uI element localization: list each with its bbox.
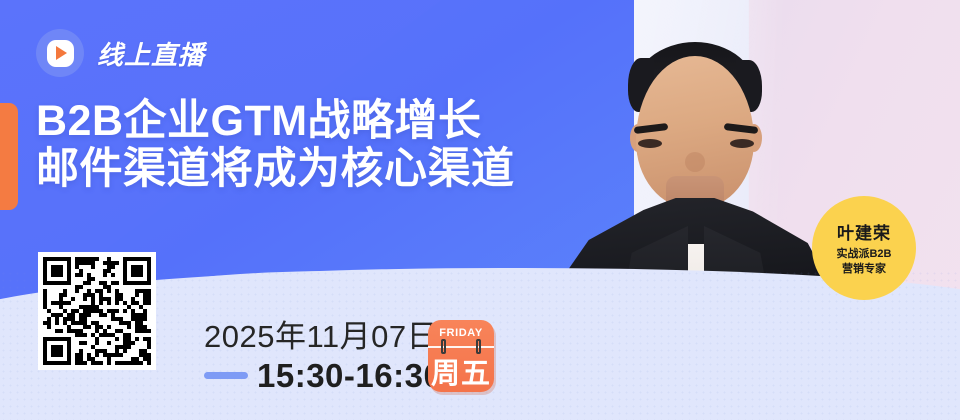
webinar-banner: 线上直播 B2B企业GTM战略增长 邮件渠道将成为核心渠道 2025年11月07…	[0, 0, 960, 420]
speaker-badge: 叶建荣 实战派B2B 营销专家	[812, 196, 916, 300]
live-badge: 线上直播	[36, 29, 205, 77]
headline-line-2: 邮件渠道将成为核心渠道	[36, 145, 515, 193]
qr-code[interactable]	[38, 252, 156, 370]
portrait-eye-left	[638, 139, 662, 148]
orange-accent-bar	[0, 103, 18, 210]
calendar-weekday-cn: 周五	[428, 350, 494, 392]
schedule-block: 2025年11月07日 15:30-16:30	[204, 320, 442, 395]
schedule-time: 15:30-16:30	[257, 357, 442, 395]
speaker-title-line-1: 实战派B2B	[836, 247, 891, 262]
calendar-weekday-en: FRIDAY	[439, 327, 483, 339]
calendar-header: FRIDAY	[428, 320, 494, 346]
schedule-time-row: 15:30-16:30	[204, 357, 442, 395]
time-dash-icon	[204, 372, 248, 379]
headline-line-1: B2B企业GTM战略增长	[36, 97, 482, 145]
qr-code-icon	[43, 257, 151, 365]
speaker-name: 叶建荣	[837, 219, 891, 244]
calendar-rule	[428, 346, 494, 348]
play-circle-icon	[36, 29, 84, 77]
portrait-eye-right	[730, 139, 754, 148]
live-badge-label: 线上直播	[97, 35, 205, 72]
play-icon-plate	[47, 40, 74, 67]
speaker-title-line-2: 营销专家	[836, 262, 891, 277]
portrait-nose	[685, 152, 705, 172]
page-title: B2B企业GTM战略增长 邮件渠道将成为核心渠道	[36, 97, 515, 193]
speaker-title: 实战派B2B 营销专家	[836, 247, 891, 276]
calendar-icon: FRIDAY 周五	[428, 320, 494, 392]
play-triangle-icon	[56, 46, 67, 60]
schedule-date: 2025年11月07日	[204, 320, 442, 355]
